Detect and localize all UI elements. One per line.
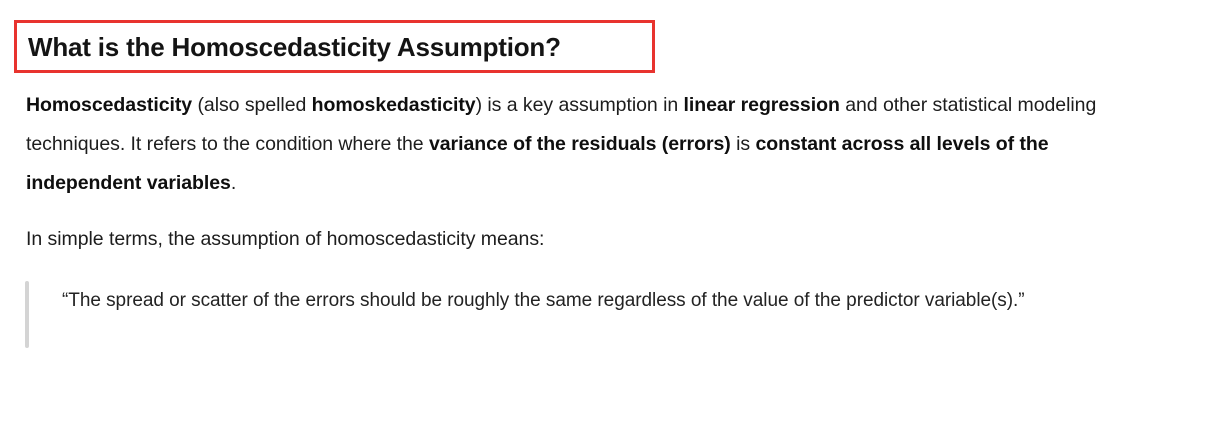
heading-highlight-box: What is the Homoscedasticity Assumption? <box>14 20 655 73</box>
text-run: (also spelled <box>192 94 312 116</box>
text-run: In simple terms, the assumption of homos… <box>26 228 544 250</box>
text-run: . <box>231 172 236 194</box>
text-run: is <box>731 133 756 155</box>
emphasis-term: homoskedasticity <box>312 94 476 116</box>
emphasis-term: linear regression <box>684 94 840 116</box>
paragraph-spacer <box>26 203 1146 220</box>
blockquote-text: “The spread or scatter of the errors sho… <box>62 281 1175 320</box>
body-content: Homoscedasticity (also spelled homoskeda… <box>26 86 1146 259</box>
blockquote: “The spread or scatter of the errors sho… <box>25 281 1175 348</box>
page-title: What is the Homoscedasticity Assumption? <box>17 32 561 62</box>
emphasis-term: variance of the residuals (errors) <box>429 133 731 155</box>
document-page: What is the Homoscedasticity Assumption?… <box>0 0 1217 427</box>
paragraph-definition: Homoscedasticity (also spelled homoskeda… <box>26 86 1146 203</box>
paragraph-simple-terms: In simple terms, the assumption of homos… <box>26 220 1146 259</box>
emphasis-term: Homoscedasticity <box>26 94 192 116</box>
blockquote-container: “The spread or scatter of the errors sho… <box>25 281 1175 348</box>
text-run: ) is a key assumption in <box>476 94 684 116</box>
blockquote-bar <box>25 281 29 348</box>
